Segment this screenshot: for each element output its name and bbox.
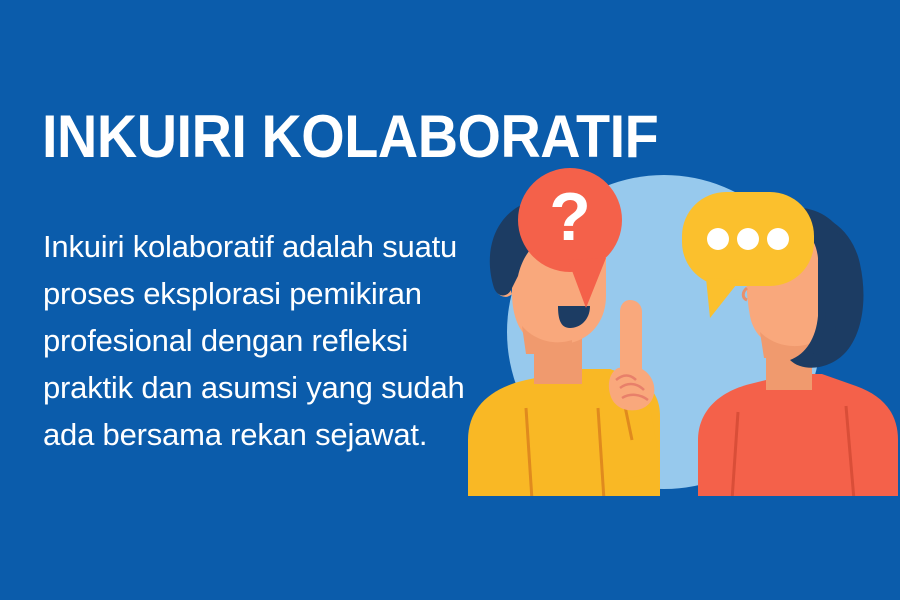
illustration-container: ? xyxy=(460,140,900,500)
body-paragraph: Inkuiri kolaboratif adalah suatu proses … xyxy=(43,223,493,458)
man-index-finger xyxy=(620,300,642,378)
poster-canvas: INKUIRI KOLABORATIF Inkuiri kolaboratif … xyxy=(0,0,900,600)
woman-sweater xyxy=(698,374,898,500)
ellipsis-dot-2 xyxy=(737,228,759,250)
ellipsis-dot-3 xyxy=(767,228,789,250)
conversation-illustration-svg: ? xyxy=(460,140,900,500)
ellipsis-dot-1 xyxy=(707,228,729,250)
question-mark-glyph: ? xyxy=(549,179,591,255)
